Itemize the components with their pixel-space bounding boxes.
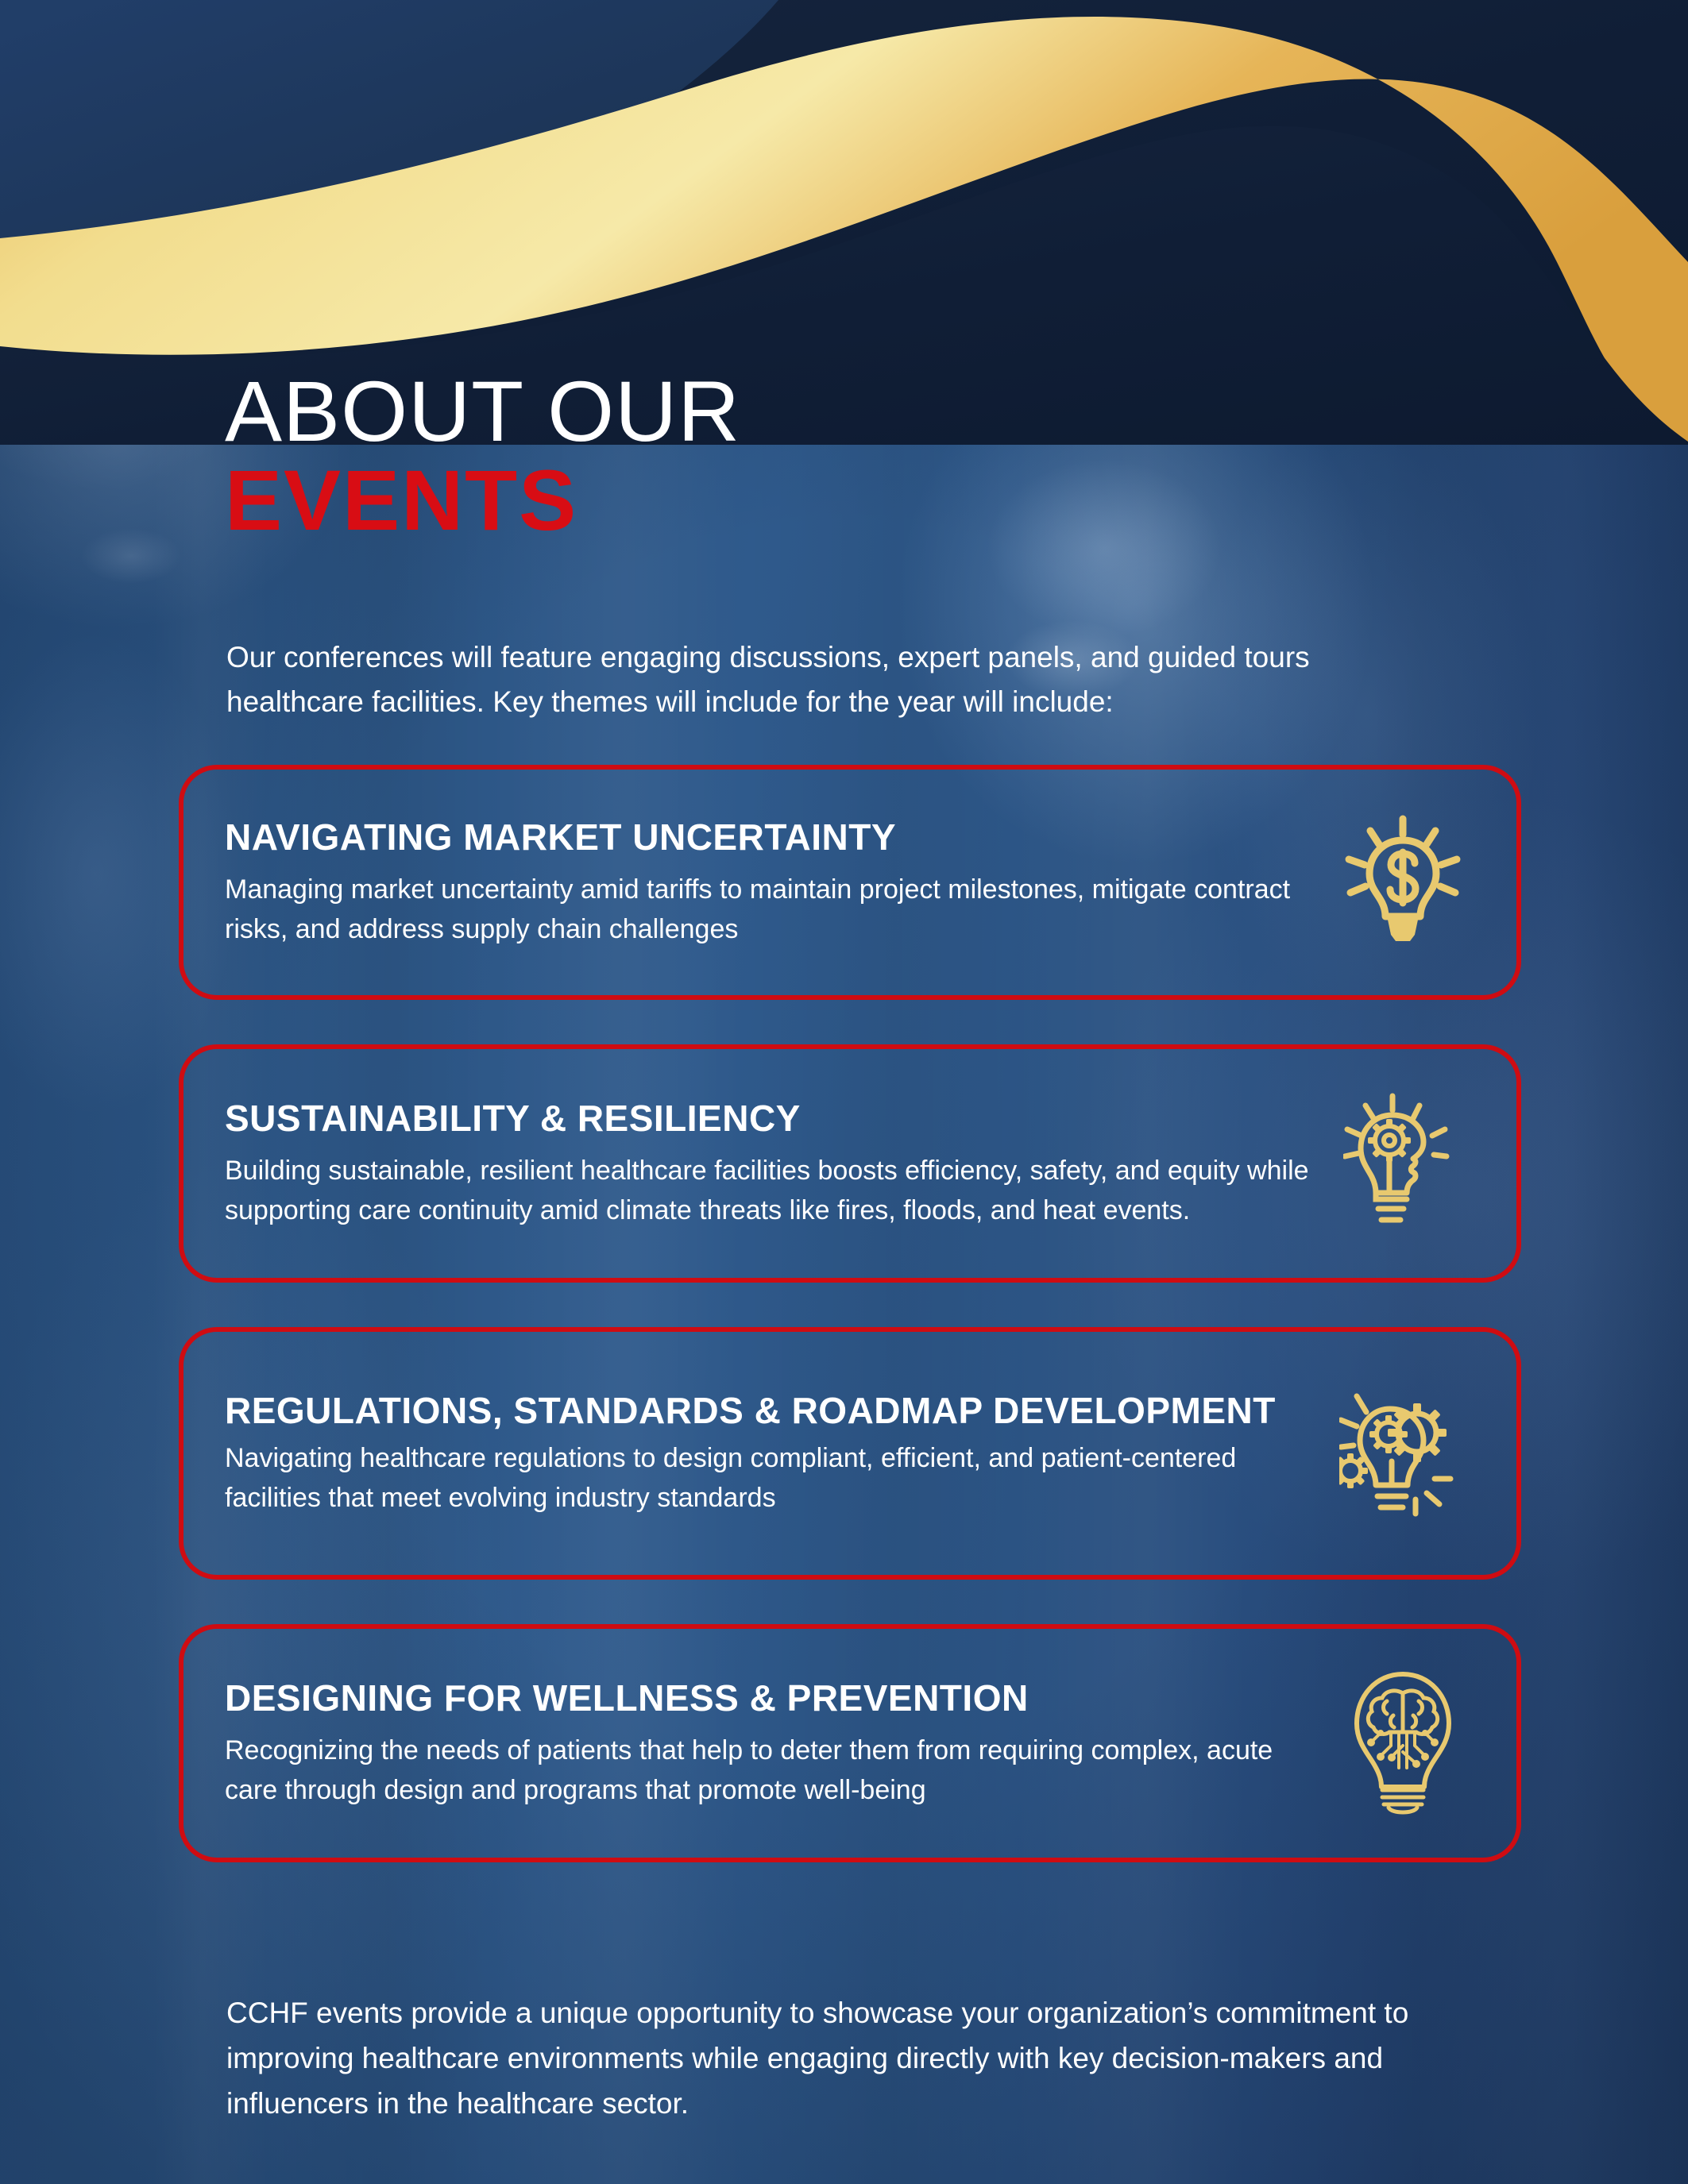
footer-paragraph: CCHF events provide a unique opportunity… xyxy=(226,1990,1481,2126)
card-title: REGULATIONS, STANDARDS & ROADMAP DEVELOP… xyxy=(225,1387,1319,1433)
card-description: Managing market uncertainty amid tariffs… xyxy=(225,870,1319,949)
card-text-block: REGULATIONS, STANDARDS & ROADMAP DEVELOP… xyxy=(225,1387,1335,1518)
card-description: Navigating healthcare regulations to des… xyxy=(225,1438,1319,1518)
theme-card[interactable]: NAVIGATING MARKET UNCERTAINTY Managing m… xyxy=(179,765,1521,1000)
lightbulb-head-gear-icon xyxy=(1335,1087,1470,1238)
card-title: SUSTAINABILITY & RESILIENCY xyxy=(225,1095,1319,1141)
lightbulb-brain-circuit-icon xyxy=(1335,1667,1470,1818)
theme-card[interactable]: REGULATIONS, STANDARDS & ROADMAP DEVELOP… xyxy=(179,1327,1521,1580)
title-line-events: EVENTS xyxy=(225,456,740,545)
card-title: NAVIGATING MARKET UNCERTAINTY xyxy=(225,814,1319,860)
theme-card[interactable]: SUSTAINABILITY & RESILIENCY Building sus… xyxy=(179,1044,1521,1283)
lightbulb-dollar-icon xyxy=(1335,806,1470,957)
card-title: DESIGNING FOR WELLNESS & PREVENTION xyxy=(225,1675,1319,1721)
theme-card[interactable]: DESIGNING FOR WELLNESS & PREVENTION Reco… xyxy=(179,1624,1521,1862)
lightbulb-gears-icon xyxy=(1335,1377,1470,1528)
card-text-block: NAVIGATING MARKET UNCERTAINTY Managing m… xyxy=(225,814,1335,949)
card-description: Recognizing the needs of patients that h… xyxy=(225,1731,1319,1810)
page-title: ABOUT OUR EVENTS xyxy=(225,367,740,545)
theme-card-list: NAVIGATING MARKET UNCERTAINTY Managing m… xyxy=(179,765,1521,1907)
card-description: Building sustainable, resilient healthca… xyxy=(225,1151,1319,1230)
intro-paragraph: Our conferences will feature engaging di… xyxy=(226,635,1450,724)
card-text-block: DESIGNING FOR WELLNESS & PREVENTION Reco… xyxy=(225,1675,1335,1810)
card-text-block: SUSTAINABILITY & RESILIENCY Building sus… xyxy=(225,1095,1335,1230)
title-line-about-our: ABOUT OUR xyxy=(225,367,740,456)
poster-page: ABOUT OUR EVENTS Our conferences will fe… xyxy=(0,0,1688,2184)
content-layer: ABOUT OUR EVENTS Our conferences will fe… xyxy=(0,0,1688,2184)
